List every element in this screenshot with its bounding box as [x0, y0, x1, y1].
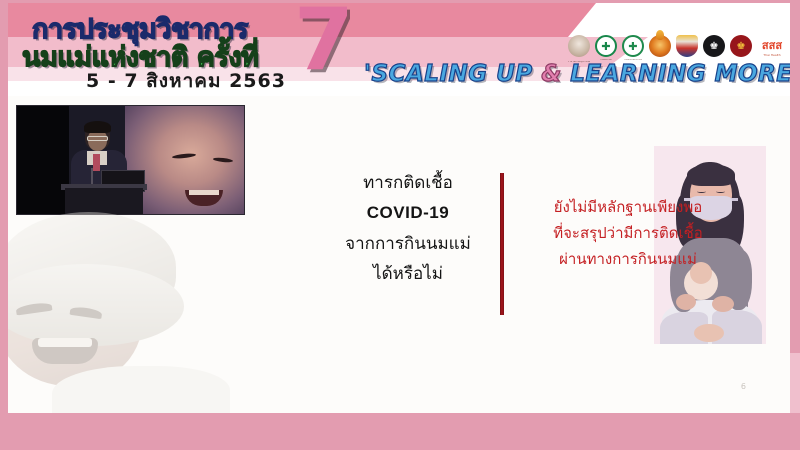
bottom-band — [8, 413, 790, 450]
thai-health-logo-icon: สสสThai Health — [757, 33, 787, 57]
photo-speaker-glasses — [87, 136, 108, 141]
watermark-baby-image — [8, 208, 260, 413]
header-banner: การประชุมวิชาการ นมแม่แห่งชาติ ครั้งที่ … — [8, 3, 790, 96]
question-line-4: ได้หรือไม่ — [328, 259, 488, 289]
speaker-photo — [16, 105, 245, 215]
black-crown-seal-logo-icon — [703, 35, 725, 57]
illustration-mother-hand-right — [712, 296, 734, 312]
watermark-baby-body — [52, 366, 230, 413]
answer-line-2: ที่จะสรุปว่ามีการติดเชื้อ — [513, 221, 743, 247]
buddha-emblem-logo-icon: ราชวิทยาลัยกุมารแพทย์ — [568, 35, 590, 57]
illustration-mother-eye-left — [697, 190, 706, 193]
photo-baby-teeth — [189, 190, 219, 195]
photo-speaker-tie — [93, 154, 100, 171]
red-crown-seal-logo-icon — [730, 35, 752, 57]
illustration-mother-hand-left — [676, 294, 696, 310]
thai-health-logo-text: สสส — [762, 39, 782, 52]
illustration-mother-foot — [694, 324, 724, 342]
question-line-1: ทารกติดเชื้อ — [328, 168, 488, 198]
answer-line-3: ผ่านทางการกินนมแม่ — [513, 247, 743, 273]
green-cross-logo-2-icon: กระทรวงสาธารณสุข — [622, 35, 644, 57]
conference-tagline: 'SCALING UP & LEARNING MORE' — [364, 61, 790, 87]
answer-line-1: ยังไม่มีหลักฐานเพียงพอ — [513, 195, 743, 221]
edition-number: 7 — [294, 3, 354, 83]
question-line-2: COVID-19 — [328, 198, 488, 228]
right-edge-band — [790, 353, 800, 413]
answer-text-block: ยังไม่มีหลักฐานเพียงพอ ที่จะสรุปว่ามีการ… — [513, 195, 743, 272]
vertical-divider-bar — [500, 173, 504, 315]
question-line-3: จากการกินนมแม่ — [328, 229, 488, 259]
green-cross-logo-1-icon: กรมอนามัย — [595, 35, 617, 57]
green-cross-logo-2-caption: กระทรวงสาธารณสุข — [624, 59, 642, 61]
thai-flag-crest-logo-icon — [676, 35, 698, 57]
page-number: 6 — [741, 382, 746, 391]
photo-speaker-hair — [84, 121, 111, 133]
green-cross-logo-1-caption: กรมอนามัย — [597, 59, 615, 61]
illustration-mother-eye-right — [716, 190, 725, 193]
thai-health-logo-caption: Thai Health — [757, 54, 787, 57]
photo-microphone — [91, 168, 93, 184]
orange-seal-logo-icon — [649, 35, 671, 57]
slide-canvas: การประชุมวิชาการ นมแม่แห่งชาติ ครั้งที่ … — [8, 3, 790, 413]
sponsor-logo-strip: ราชวิทยาลัยกุมารแพทย์ กรมอนามัย กระทรวงส… — [568, 23, 787, 57]
photo-wall-left — [17, 106, 69, 214]
buddha-emblem-logo-caption: ราชวิทยาลัยกุมารแพทย์ — [568, 61, 590, 63]
watermark-baby-teeth — [38, 338, 92, 347]
conference-date: 5 - 7 สิงหาคม 2563 — [86, 66, 286, 96]
tagline-part-after: LEARNING MORE' — [562, 61, 790, 87]
tagline-part-before: 'SCALING UP — [364, 61, 541, 87]
tagline-ampersand: & — [541, 61, 562, 87]
question-text-block: ทารกติดเชื้อ COVID-19 จากการกินนมแม่ ได้… — [328, 168, 488, 289]
illustration-mother-fringe — [687, 164, 735, 186]
slide-outer-frame: การประชุมวิชาการ นมแม่แห่งชาติ ครั้งที่ … — [0, 0, 800, 450]
